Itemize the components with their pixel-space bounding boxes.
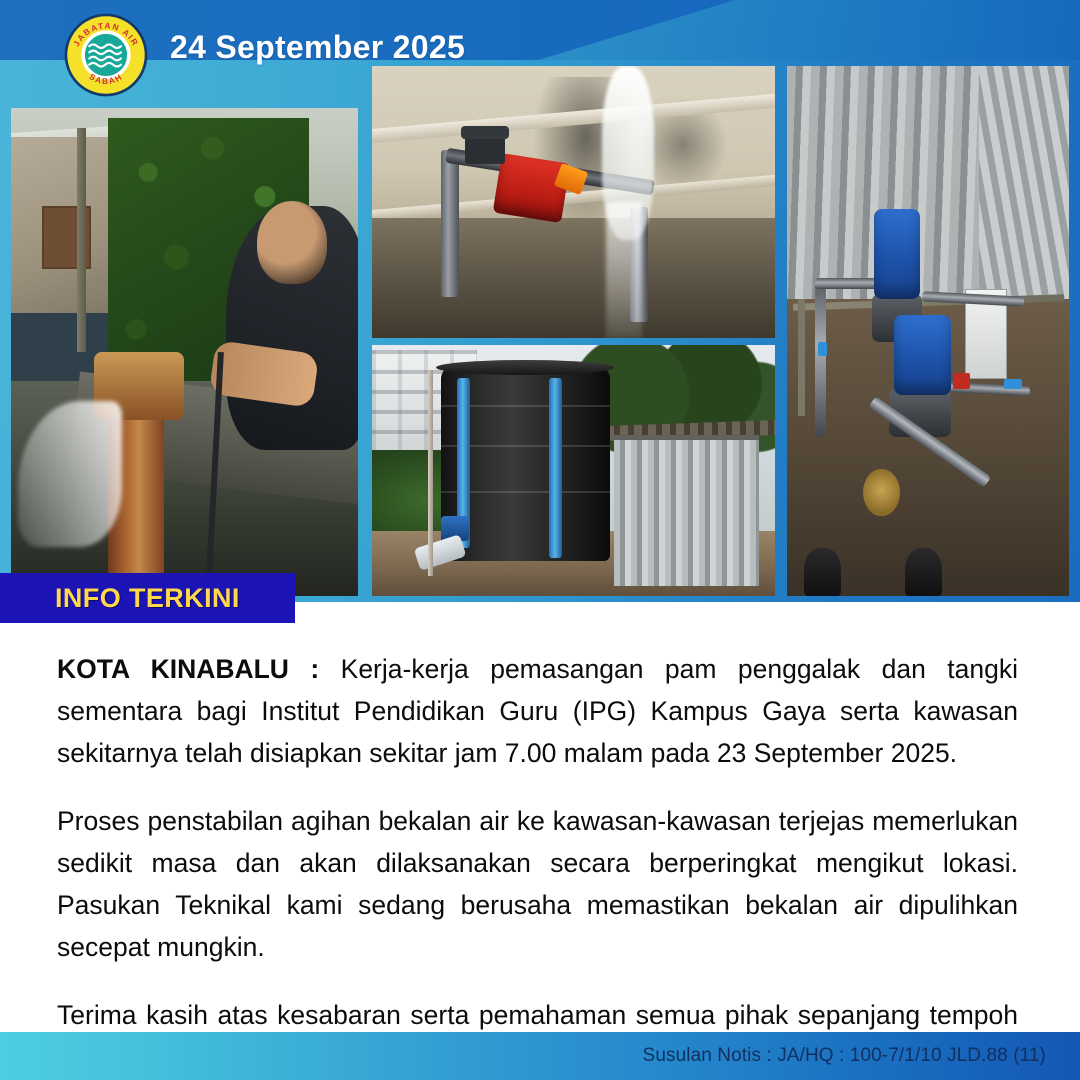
announcement-body: KOTA KINABALU : Kerja-kerja pemasangan p… xyxy=(0,630,1080,1020)
info-terkini-badge: INFO TERKINI xyxy=(0,573,295,623)
paragraph-1-lead: KOTA KINABALU : xyxy=(57,654,319,684)
photo-black-water-tank xyxy=(372,345,775,596)
photo-red-water-meter xyxy=(372,66,775,338)
paragraph-1: KOTA KINABALU : Kerja-kerja pemasangan p… xyxy=(57,648,1018,774)
paragraph-2: Proses penstabilan agihan bekalan air ke… xyxy=(57,800,1018,968)
photo-gallery xyxy=(0,60,1080,602)
footer-reference-note: Susulan Notis : JA/HQ : 100-7/1/10 JLD.8… xyxy=(643,1045,1046,1067)
footer-bar: Susulan Notis : JA/HQ : 100-7/1/10 JLD.8… xyxy=(0,1032,1080,1080)
photo-hydrant-flushing xyxy=(11,108,358,596)
poster-date: 24 September 2025 xyxy=(170,29,465,66)
info-poster: JABATAN AIR SABAH 24 September 2025 xyxy=(0,0,1080,1080)
photo-booster-pumps xyxy=(787,66,1069,596)
jabatan-air-sabah-logo-icon: JABATAN AIR SABAH xyxy=(62,11,150,99)
info-terkini-label: INFO TERKINI xyxy=(55,583,240,614)
